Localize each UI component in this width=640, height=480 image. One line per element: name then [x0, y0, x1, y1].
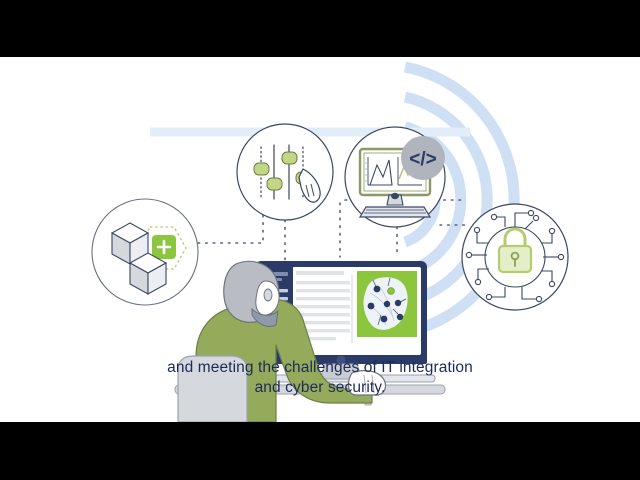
subtitle-caption: and meeting the challenges of IT integra…: [0, 358, 640, 398]
video-stage: </>: [0, 57, 640, 422]
letterbox-bottom-bar: [0, 422, 640, 480]
letterbox-top-bar: [0, 0, 640, 57]
video-frame: </>: [0, 0, 640, 480]
icon-cyber-security-lock[interactable]: [462, 204, 568, 310]
subtitle-line-1: and meeting the challenges of IT integra…: [0, 358, 640, 378]
code-badge-icon: </>: [401, 136, 445, 180]
monitor-map-pane: [357, 271, 417, 337]
icon-configuration-sliders[interactable]: [237, 124, 333, 220]
subtitle-line-2: and cyber security.: [0, 378, 640, 398]
svg-text:</>: </>: [409, 149, 436, 170]
icon-analytics-monitor[interactable]: </>: [345, 127, 445, 227]
icon-modular-blocks[interactable]: [92, 199, 198, 305]
